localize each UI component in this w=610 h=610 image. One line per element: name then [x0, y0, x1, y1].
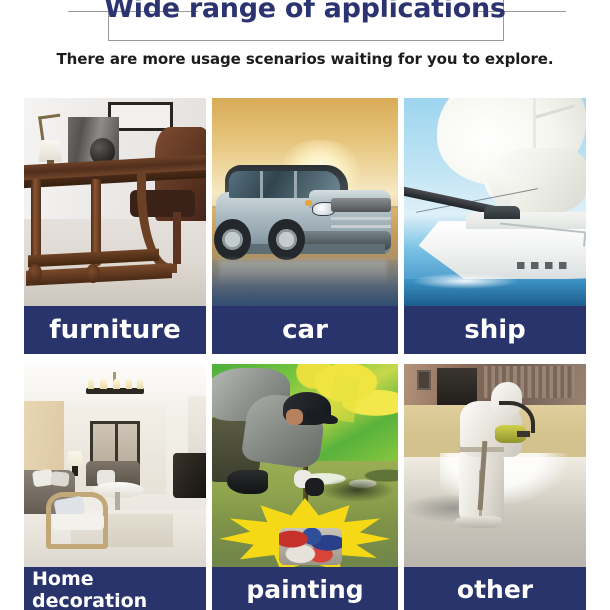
label-painting[interactable]: painting [212, 567, 398, 610]
home-decoration-photo [24, 364, 206, 567]
application-grid-row-1: furniture [24, 98, 586, 354]
chandelier-candle [113, 379, 119, 389]
chandelier-candle [100, 379, 106, 389]
table-leg-left [31, 179, 41, 266]
worker-boot [455, 516, 502, 528]
page-subtitle: There are more usage scenarios waiting f… [0, 50, 610, 68]
label-furniture[interactable]: furniture [24, 306, 206, 354]
painter-face [286, 409, 303, 425]
label-text: car [282, 315, 328, 345]
lamp-shade [39, 140, 63, 163]
label-text: Home decoration [32, 568, 206, 610]
label-text: other [457, 575, 533, 604]
furniture-photo [24, 98, 206, 306]
dark-doorway [437, 368, 477, 405]
painting-photo [212, 364, 398, 567]
page-title: Wide range of applications [0, 0, 610, 24]
application-card-painting[interactable]: painting [212, 364, 398, 610]
car-grille [331, 198, 391, 213]
window-pillar-b [260, 171, 263, 198]
chandelier-candle [137, 379, 143, 389]
label-text: ship [464, 315, 526, 345]
dark-paint-pool [320, 478, 394, 502]
chandelier-candle [88, 379, 94, 389]
deck-cabin [484, 206, 520, 218]
application-card-furniture[interactable]: furniture [24, 98, 206, 354]
car-wheel-front [268, 219, 305, 261]
label-text: painting [246, 575, 363, 604]
piano [173, 453, 206, 498]
painted-shoes-pile [279, 528, 342, 565]
chandelier [86, 388, 144, 394]
chandelier-candle [126, 379, 132, 389]
armchair-seat [53, 514, 104, 530]
label-ship[interactable]: ship [404, 306, 586, 354]
car-photo [212, 98, 398, 306]
label-home-decoration[interactable]: Home decoration [24, 567, 206, 610]
ship-photo [404, 98, 586, 306]
application-card-other[interactable]: other [404, 364, 586, 610]
application-grid-row-2: Home decoration [24, 364, 586, 610]
application-card-ship[interactable]: ship [404, 98, 586, 354]
grille-bar-upper [331, 217, 391, 220]
porthole-row [517, 262, 572, 268]
coffee-table-leg [115, 492, 120, 510]
spray-nozzle [517, 431, 530, 437]
grille-bar-lower [331, 225, 391, 228]
application-card-home-decoration[interactable]: Home decoration [24, 364, 206, 610]
painter-shoe [227, 470, 268, 494]
bow-foam [411, 273, 520, 290]
label-car[interactable]: car [212, 306, 398, 354]
painter-glove [305, 478, 324, 496]
table-foot-left [28, 264, 43, 283]
page-header: Wide range of applications [0, 0, 610, 46]
applications-showcase-page: Wide range of applications There are mor… [0, 0, 610, 610]
window-pillar-c [294, 171, 297, 198]
application-grid: furniture [24, 98, 586, 610]
other-photo [404, 364, 586, 567]
application-card-car[interactable]: car [212, 98, 398, 354]
label-text: furniture [49, 315, 180, 345]
throw-pillow [51, 471, 71, 487]
car-wheel-rear [214, 219, 251, 261]
label-other[interactable]: other [404, 567, 586, 610]
car-reflection [219, 260, 386, 285]
wall-window [417, 370, 432, 390]
